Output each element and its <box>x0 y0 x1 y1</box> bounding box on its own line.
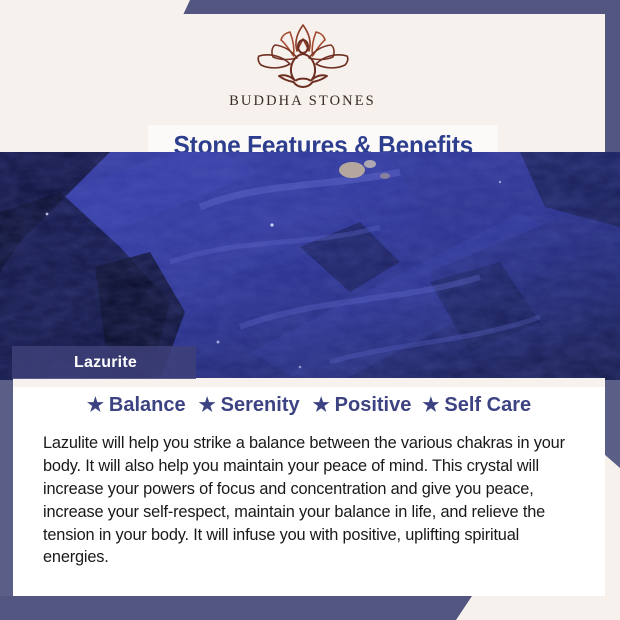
stone-name-label: Lazurite <box>12 346 196 379</box>
bottom-accent-bar <box>0 596 472 620</box>
star-icon: ★ <box>422 396 439 415</box>
stone-description: Lazulite will help you strike a balance … <box>43 432 581 569</box>
feature-item-balance: ★ Balance <box>87 394 186 417</box>
lotus-meditation-icon <box>244 20 362 92</box>
feature-list: ★ Balance ★ Serenity ★ Positive ★ Self C… <box>13 394 605 417</box>
star-icon: ★ <box>313 396 330 415</box>
feature-label: Serenity <box>221 394 300 417</box>
header: BUDDHA STONES Stone Features & Benefits <box>0 14 605 152</box>
brand-name: BUDDHA STONES <box>229 93 376 110</box>
left-accent-bar <box>0 376 13 596</box>
panel-top-strip <box>13 378 605 387</box>
star-icon: ★ <box>199 396 216 415</box>
feature-label: Self Care <box>444 394 531 417</box>
feature-item-self-care: ★ Self Care <box>422 394 531 417</box>
star-icon: ★ <box>87 396 104 415</box>
feature-item-positive: ★ Positive <box>313 394 412 417</box>
brand-logo: BUDDHA STONES <box>0 20 605 110</box>
feature-item-serenity: ★ Serenity <box>199 394 300 417</box>
stone-name-text: Lazurite <box>74 354 137 372</box>
content-panel: ★ Balance ★ Serenity ★ Positive ★ Self C… <box>13 378 605 596</box>
poster: BUDDHA STONES Stone Features & Benefits <box>0 0 620 620</box>
feature-label: Balance <box>109 394 186 417</box>
feature-label: Positive <box>335 394 412 417</box>
right-lower-accent-bar <box>604 378 620 468</box>
